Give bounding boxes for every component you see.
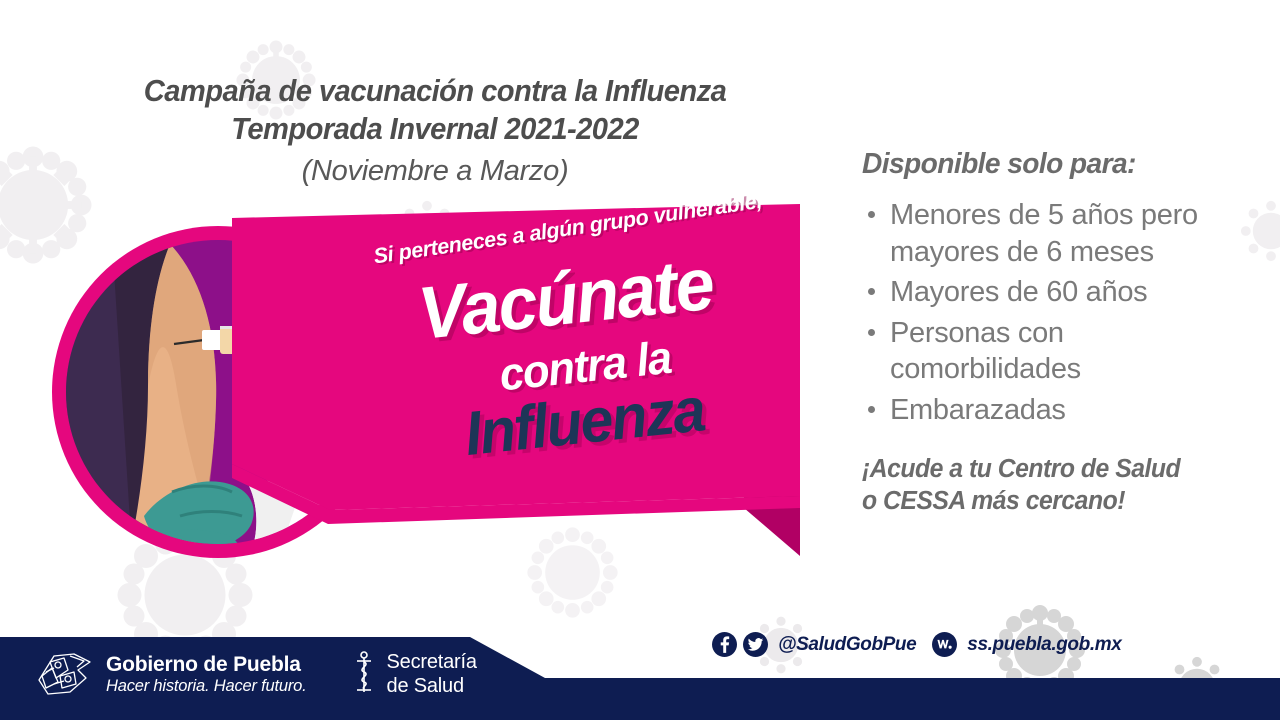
list-item: Personas con comorbilidades xyxy=(862,315,1262,388)
list-item-label: Menores de 5 años pero mayores de 6 mese… xyxy=(890,199,1198,268)
bullet-icon xyxy=(868,211,875,218)
bullet-icon xyxy=(868,406,875,413)
gobierno-de-puebla-logo-icon xyxy=(34,648,96,703)
bullet-icon xyxy=(868,288,875,295)
twitter-icon[interactable] xyxy=(743,632,768,657)
eligibility-cta: ¡Acude a tu Centro de Salud o CESSA más … xyxy=(862,454,1250,517)
vaccination-call-banner: Si perteneces a algún grupo vulnerable, … xyxy=(232,196,812,566)
footer-logos: Gobierno de Puebla Hacer historia. Hacer… xyxy=(0,630,560,720)
list-item-label: Personas con comorbilidades xyxy=(890,317,1081,386)
social-links: @SaludGobPue ss.puebla.gob.mx xyxy=(712,632,1137,657)
eligibility-list: Menores de 5 años pero mayores de 6 mese… xyxy=(862,197,1262,428)
headline-line-3: (Noviembre a Marzo) xyxy=(40,154,830,189)
cta-line-2: o CESSA más cercano! xyxy=(862,486,1250,518)
web-icon[interactable] xyxy=(932,632,957,657)
banner-body xyxy=(232,204,800,510)
list-item: Embarazadas xyxy=(862,392,1262,429)
list-item: Mayores de 60 años xyxy=(862,274,1262,311)
social-handle[interactable]: @SaludGobPue xyxy=(778,634,916,656)
eligibility-title: Disponible solo para: xyxy=(862,148,1250,181)
influenza-campaign-poster: Campaña de vacunación contra la Influenz… xyxy=(0,0,1280,720)
list-item-label: Embarazadas xyxy=(890,394,1066,426)
headline-line-1: Campaña de vacunación contra la Influenz… xyxy=(64,72,807,110)
headline-line-2: Temporada Invernal 2021-2022 xyxy=(64,110,807,148)
gobierno-de-puebla-text: Gobierno de Puebla Hacer historia. Hacer… xyxy=(106,653,307,697)
bullet-icon xyxy=(868,329,875,336)
rod-of-asclepius-icon xyxy=(351,650,377,701)
gobierno-title: Gobierno de Puebla xyxy=(106,653,307,677)
eligibility-panel: Disponible solo para: Menores de 5 años … xyxy=(862,148,1262,517)
secretaria-line-2: de Salud xyxy=(387,675,477,699)
cta-line-1: ¡Acude a tu Centro de Salud xyxy=(862,454,1250,486)
list-item-label: Mayores de 60 años xyxy=(890,276,1147,308)
gobierno-tagline: Hacer historia. Hacer futuro. xyxy=(106,677,307,697)
campaign-headline: Campaña de vacunación contra la Influenz… xyxy=(40,72,830,188)
secretaria-de-salud-text: Secretaría de Salud xyxy=(387,651,477,698)
facebook-icon[interactable] xyxy=(712,632,737,657)
list-item: Menores de 5 años pero mayores de 6 mese… xyxy=(862,197,1262,270)
secretaria-line-1: Secretaría xyxy=(387,651,477,675)
website-url[interactable]: ss.puebla.gob.mx xyxy=(967,634,1121,656)
